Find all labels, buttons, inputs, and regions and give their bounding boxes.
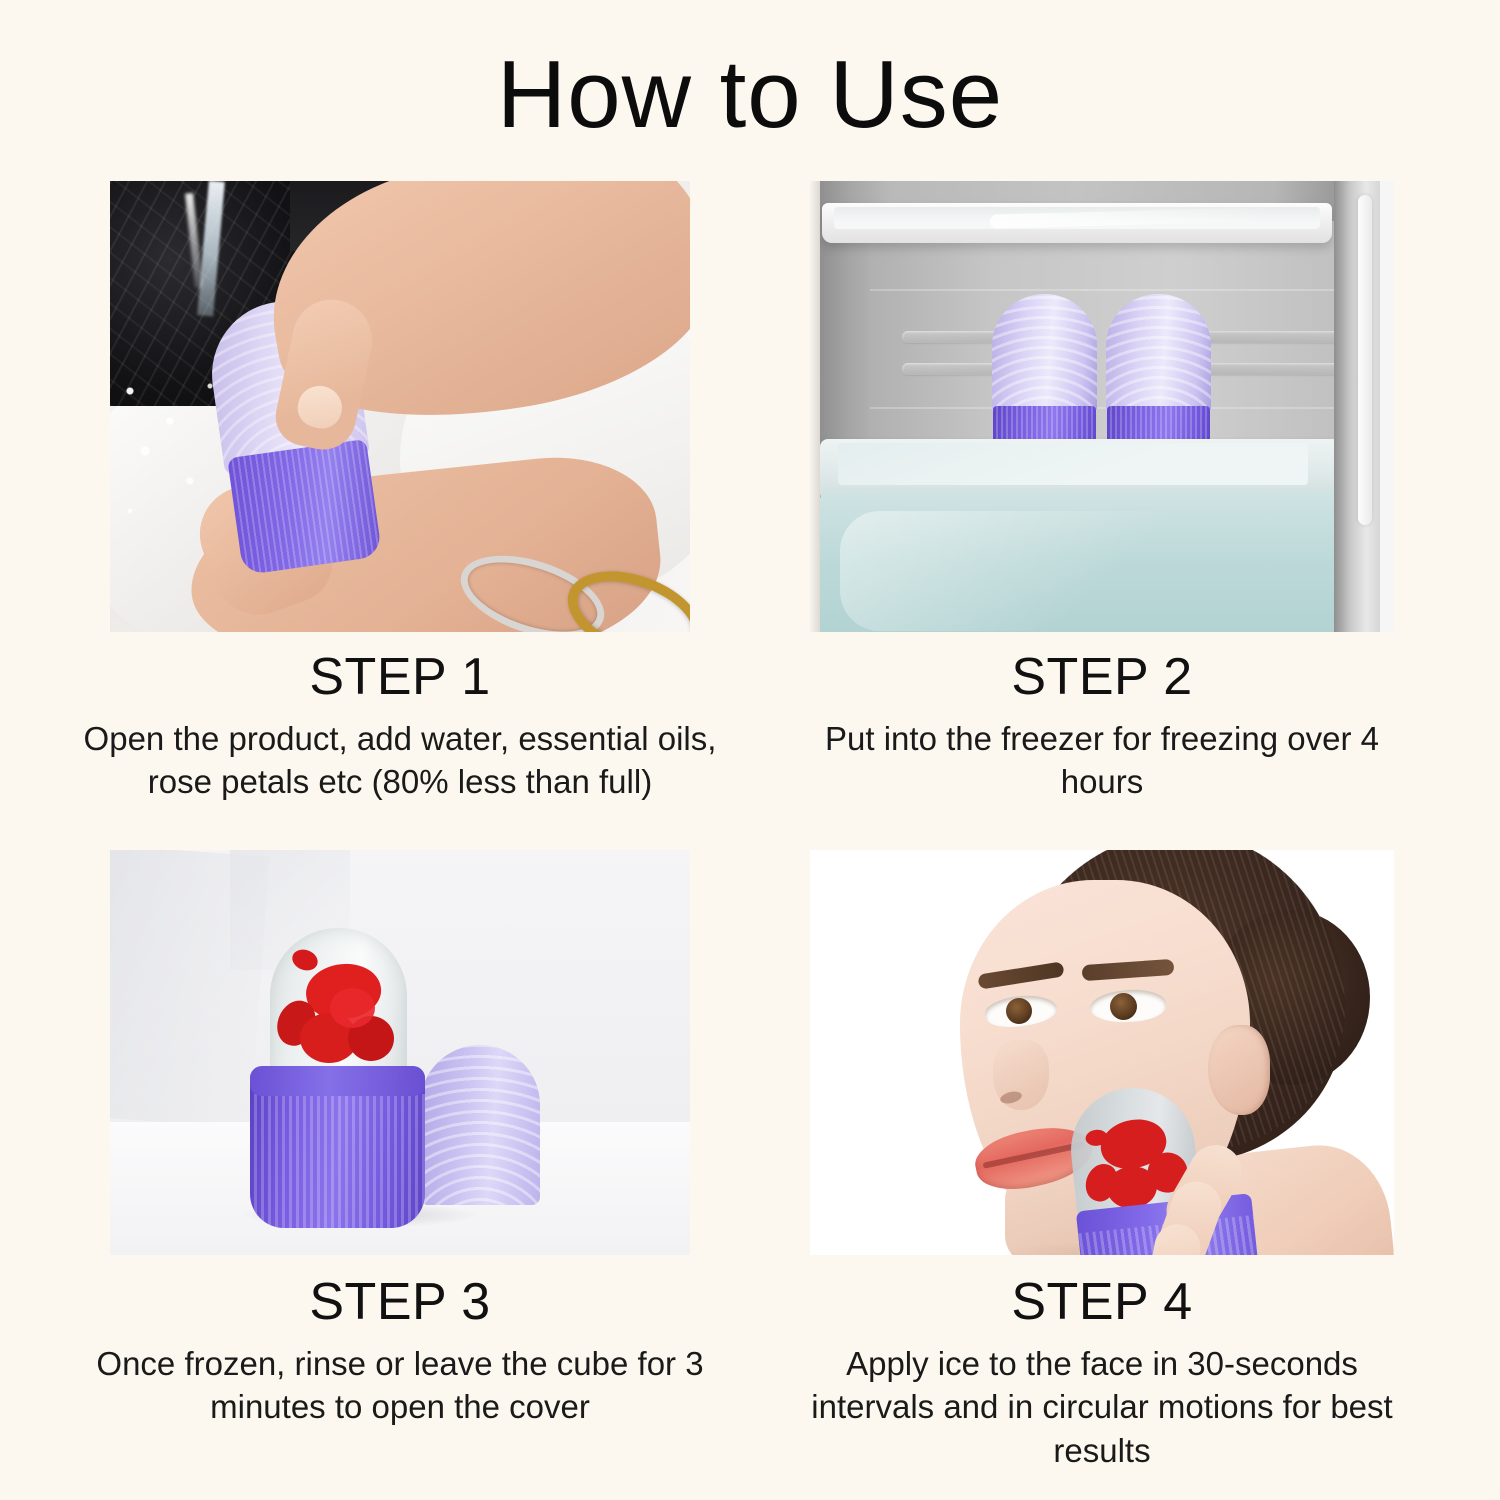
how-to-use-infographic: How to Use <box>0 0 1500 1500</box>
fridge-drawer-glass <box>838 443 1308 485</box>
step-2-image <box>810 181 1394 632</box>
step-4-image <box>810 850 1394 1255</box>
roller-cover <box>992 294 1097 414</box>
fridge-groove-top <box>870 289 1374 291</box>
step-card-3: STEP 3 Once frozen, rinse or leave the c… <box>50 850 750 1429</box>
fridge-rail-right-upper <box>1202 331 1352 343</box>
page-title: How to Use <box>0 40 1500 150</box>
step-3-label: STEP 3 <box>50 1275 750 1330</box>
roller-cover-detached <box>420 1045 540 1205</box>
step-card-2: STEP 2 Put into the freezer for freezing… <box>752 181 1452 804</box>
step-1-image <box>110 181 690 632</box>
step-3-description: Once frozen, rinse or leave the cube for… <box>50 1342 750 1429</box>
step-3-image <box>110 850 690 1255</box>
step-card-1: STEP 1 Open the product, add water, esse… <box>50 181 750 804</box>
step-4-label: STEP 4 <box>752 1275 1452 1330</box>
step-1-description: Open the product, add water, essential o… <box>50 717 750 804</box>
roller-base <box>227 439 382 575</box>
fridge-door-seal <box>1358 195 1372 525</box>
roller-cover <box>1106 294 1211 414</box>
roller-base-rim <box>250 1066 425 1096</box>
model-iris-right <box>1110 993 1137 1020</box>
rose-petal <box>289 946 320 974</box>
fridge-left-edge <box>810 181 820 632</box>
step-2-description: Put into the freezer for freezing over 4… <box>752 717 1452 804</box>
fridge-drawer-highlight <box>840 511 1200 631</box>
model-ear <box>1208 1025 1270 1115</box>
step-card-4: STEP 4 Apply ice to the face in 30-secon… <box>752 850 1452 1472</box>
step-1-label: STEP 1 <box>50 650 750 705</box>
frozen-ice-cube <box>270 928 407 1088</box>
fridge-door-frame <box>1334 181 1380 632</box>
model-iris-left <box>1006 998 1032 1024</box>
fridge-rail-right-lower <box>1202 363 1352 375</box>
step-4-description: Apply ice to the face in 30-seconds inte… <box>752 1342 1452 1473</box>
rose-petal <box>330 988 375 1028</box>
step-2-label: STEP 2 <box>752 650 1452 705</box>
